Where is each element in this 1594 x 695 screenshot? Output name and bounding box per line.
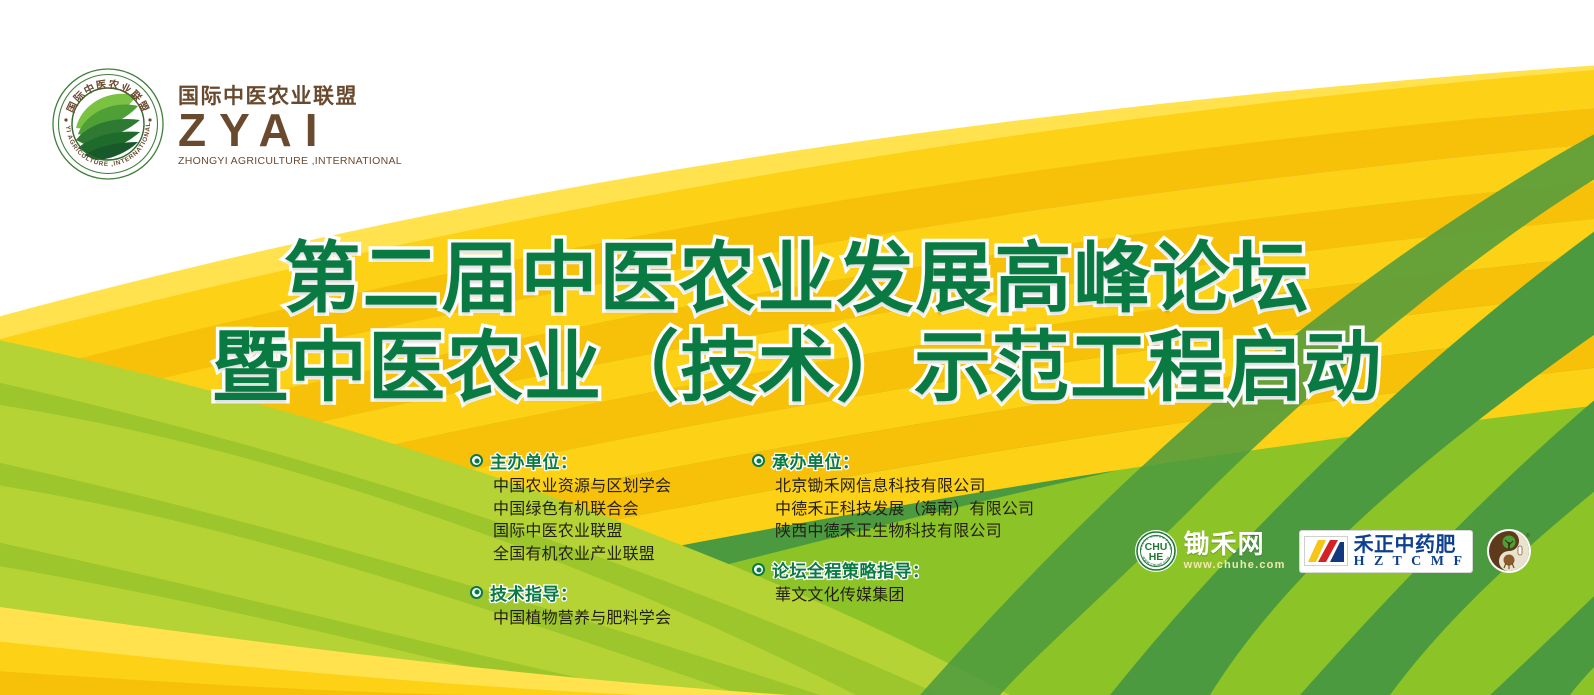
list-item: 陕西中德禾正生物科技有限公司 [775,520,1052,543]
group-co-organizer: 承办单位： 北京锄禾网信息科技有限公司 中德禾正科技发展（海南）有限公司 陕西中… [752,448,1052,543]
zyai-logo-block: 国际中医农业联盟 ZHONGYI AGRICULTURE ,INTERNATIO… [52,68,402,180]
hztcmf-wordmark: 禾正中药肥 H Z T C M F [1354,534,1465,569]
group-items: 華文文化传媒集团 [752,584,1052,607]
tree-root-seal-icon: ® [1486,528,1532,574]
group-host: 主办单位： 中国农业资源与区划学会 中国绿色有机联合会 国际中医农业联盟 全国有… [470,448,738,566]
sponsor-chuhe: CHU HE CHUHE GREEN FARM WWW.CHUHE.COM 锄禾… [1134,529,1286,573]
list-item: 北京锄禾网信息科技有限公司 [775,475,1052,498]
group-strategy-guidance: 论坛全程策略指导： 華文文化传媒集团 [752,557,1052,607]
hztcmf-parallelogram-icon [1304,536,1348,566]
organizer-column-left: 主办单位： 中国农业资源与区划学会 中国绿色有机联合会 国际中医农业联盟 全国有… [470,448,738,630]
list-item: 中国植物营养与肥料学会 [493,607,738,630]
chuhe-wordmark: 锄禾网 www.chuhe.com [1184,532,1286,571]
list-item: 中国农业资源与区划学会 [493,475,738,498]
organizer-info: 主办单位： 中国农业资源与区划学会 中国绿色有机联合会 国际中医农业联盟 全国有… [470,448,1052,630]
hztcmf-name-en: H Z T C M F [1354,555,1465,569]
group-heading-row: 技术指导： [470,580,738,605]
group-heading: 论坛全程策略指导： [772,557,930,582]
sponsor-seal: ® [1486,528,1532,574]
logo-acronym: ZYAI [178,109,402,153]
bullet-icon [752,454,765,467]
group-items: 北京锄禾网信息科技有限公司 中德禾正科技发展（海南）有限公司 陕西中德禾正生物科… [752,475,1052,543]
list-item: 国际中医农业联盟 [493,520,738,543]
bullet-icon [470,586,483,599]
logo-org-en: ZHONGYI AGRICULTURE ,INTERNATIONAL [178,156,402,167]
bullet-icon [470,454,483,467]
chuhe-name: 锄禾网 [1184,532,1286,558]
chuhe-url: www.chuhe.com [1184,560,1286,571]
list-item: 中国绿色有机联合会 [493,498,738,521]
sponsor-hztcmf: 禾正中药肥 H Z T C M F [1299,530,1473,573]
svg-text:®: ® [1526,532,1530,539]
group-heading-row: 承办单位： [752,448,1052,473]
zyai-wordmark: 国际中医农业联盟 ZYAI ZHONGYI AGRICULTURE ,INTER… [178,82,402,166]
group-technical-guidance: 技术指导： 中国植物营养与肥料学会 [470,580,738,630]
bullet-icon [752,563,765,576]
zyai-emblem-icon: 国际中医农业联盟 ZHONGYI AGRICULTURE ,INTERNATIO… [52,68,164,180]
list-item: 全国有机农业产业联盟 [493,543,738,566]
hztcmf-name-cn: 禾正中药肥 [1354,534,1465,554]
organizer-column-right: 承办单位： 北京锄禾网信息科技有限公司 中德禾正科技发展（海南）有限公司 陕西中… [752,448,1052,630]
group-items: 中国农业资源与区划学会 中国绿色有机联合会 国际中医农业联盟 全国有机农业产业联… [470,475,738,566]
group-heading: 主办单位： [490,448,578,473]
conference-banner: 国际中医农业联盟 ZHONGYI AGRICULTURE ,INTERNATIO… [0,0,1594,695]
list-item: 華文文化传媒集团 [775,584,1052,607]
group-heading: 技术指导： [490,580,578,605]
list-item: 中德禾正科技发展（海南）有限公司 [775,498,1052,521]
group-heading-row: 主办单位： [470,448,738,473]
sponsor-logos: CHU HE CHUHE GREEN FARM WWW.CHUHE.COM 锄禾… [1134,528,1532,574]
svg-text:HE: HE [1148,551,1163,563]
group-heading: 承办单位： [772,448,860,473]
chuhe-circle-icon: CHU HE CHUHE GREEN FARM WWW.CHUHE.COM [1134,529,1178,573]
group-items: 中国植物营养与肥料学会 [470,607,738,630]
group-heading-row: 论坛全程策略指导： [752,557,1052,582]
